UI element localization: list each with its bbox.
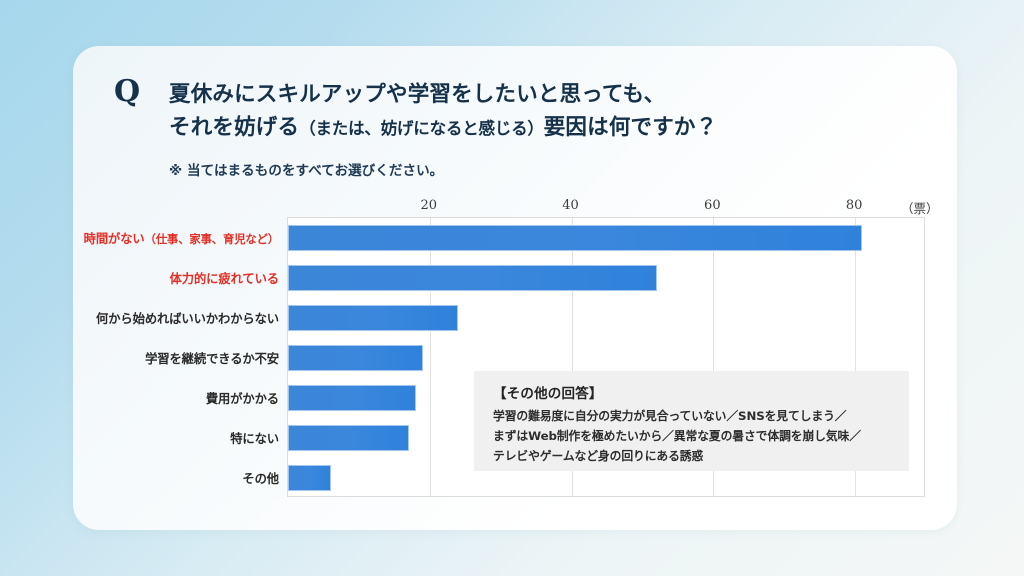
other-answers-line-2: まずはWeb制作を極めたいから／異常な夏の暑さで体調を崩し気味／	[493, 429, 861, 443]
x-tick-60: 60	[704, 198, 721, 213]
bar-1[interactable]	[288, 225, 862, 251]
bar-row[interactable]	[288, 298, 926, 338]
other-answers-line-1: 学習の難易度に自分の実力が見合っていない／SNSを見てしまう／	[493, 409, 847, 423]
category-label-paren: （仕事、家事、育児など）	[145, 233, 279, 246]
bar-2[interactable]	[288, 265, 657, 291]
x-tick-40: 40	[562, 198, 579, 213]
bar-3[interactable]	[288, 305, 458, 331]
category-label-7: その他	[242, 469, 279, 487]
other-answers-body: 学習の難易度に自分の実力が見合っていない／SNSを見てしまう／ まずはWeb制作…	[493, 406, 909, 466]
category-label-main: 時間がない	[84, 232, 145, 246]
x-tick-20: 20	[420, 198, 437, 213]
bar-6[interactable]	[288, 425, 409, 451]
bar-4[interactable]	[288, 345, 423, 371]
x-axis-unit-label: （票）	[901, 198, 939, 217]
x-tick-80: 80	[846, 198, 863, 213]
other-answers-line-3: テレビやゲームなど身の回りにある誘惑	[493, 449, 703, 463]
content-card: Q 夏休みにスキルアップや学習をしたいと思っても、 それを妨げる（または、妨げに…	[73, 46, 957, 530]
bar-7[interactable]	[288, 465, 331, 491]
category-label-1: 時間がない（仕事、家事、育児など）	[84, 229, 279, 247]
category-label-3: 何から始めればいいかわからない	[96, 309, 279, 327]
other-answers-box: 【その他の回答】 学習の難易度に自分の実力が見合っていない／SNSを見てしまう／…	[474, 371, 909, 471]
bar-chart: 20406080（票） 時間がない（仕事、家事、育児など）体力的に疲れている何か…	[73, 46, 957, 530]
category-label-5: 費用がかかる	[206, 389, 279, 407]
bar-row[interactable]	[288, 218, 926, 258]
other-answers-title: 【その他の回答】	[493, 382, 909, 402]
chart-x-axis: 20406080（票）	[287, 198, 925, 218]
category-label-4: 学習を継続できるか不安	[145, 349, 279, 367]
bar-row[interactable]	[288, 258, 926, 298]
category-label-6: 特にない	[230, 429, 279, 447]
category-label-2: 体力的に疲れている	[170, 269, 279, 287]
bar-5[interactable]	[288, 385, 416, 411]
